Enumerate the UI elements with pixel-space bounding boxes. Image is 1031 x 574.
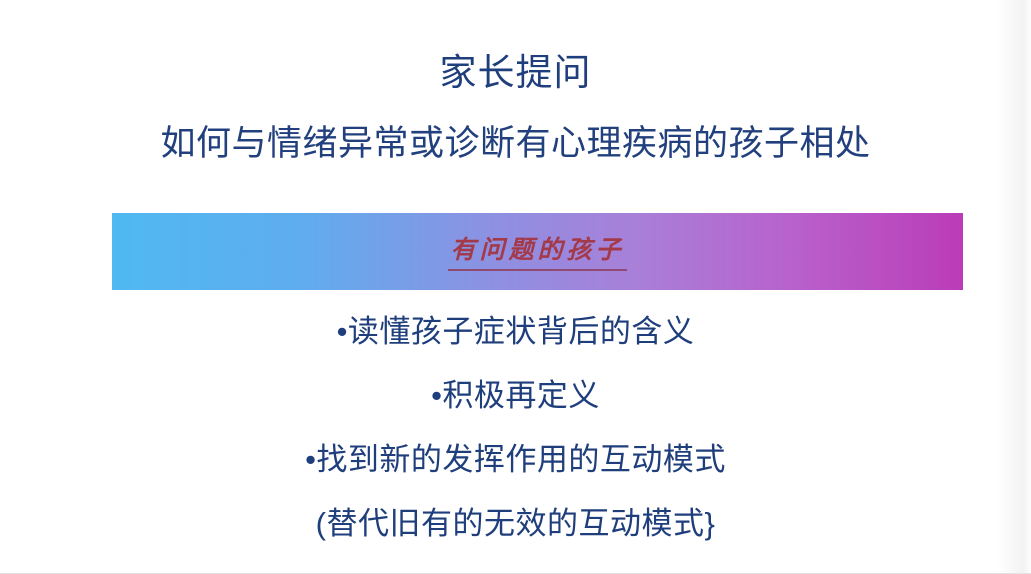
list-item: •积极再定义 [0, 364, 1031, 428]
list-item: (替代旧有的无效的互动模式} [0, 492, 1031, 556]
presentation-slide: 家长提问 如何与情绪异常或诊断有心理疾病的孩子相处 有问题的孩子 •读懂孩子症状… [0, 0, 1031, 574]
list-item: •读懂孩子症状背后的含义 [0, 300, 1031, 364]
page-title: 家长提问 [0, 52, 1031, 95]
bullet-list: •读懂孩子症状背后的含义 •积极再定义 •找到新的发挥作用的互动模式 (替代旧有… [0, 300, 1031, 556]
gradient-banner: 有问题的孩子 [112, 213, 963, 290]
list-item: •找到新的发挥作用的互动模式 [0, 428, 1031, 492]
banner-heading: 有问题的孩子 [448, 236, 626, 271]
slide-subtitle: 如何与情绪异常或诊断有心理疾病的孩子相处 [0, 124, 1031, 164]
